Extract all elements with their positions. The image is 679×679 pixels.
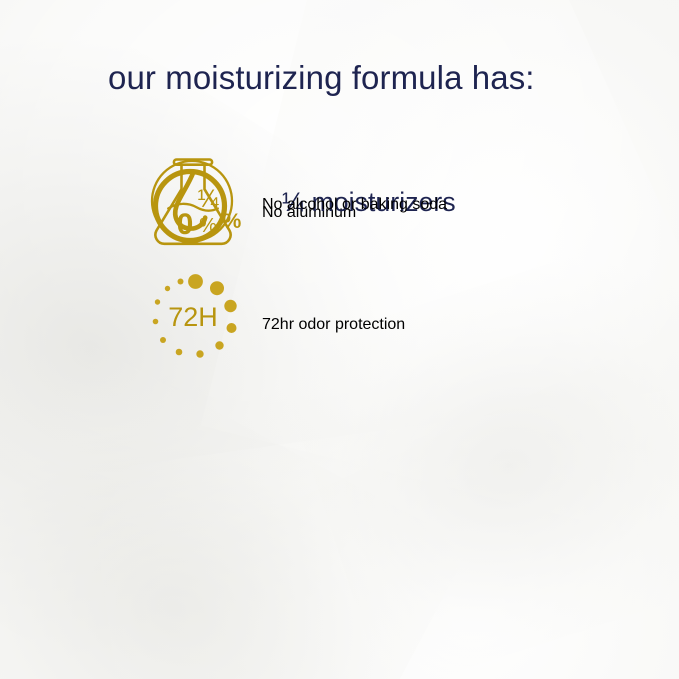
72h-dot-ring-icon: 72H (140, 270, 262, 379)
product-benefits-panel: our moisturizing formula has: % No alumi… (0, 0, 679, 679)
list-item-label: No alcohol or baking soda (262, 196, 447, 214)
icon-badge: % (199, 215, 217, 237)
list-item: 72H 72hr odor protection (140, 270, 405, 379)
page-title: our moisturizing formula has: (108, 59, 535, 97)
list-item: 0 % No alcohol or baking soda (140, 150, 447, 259)
icon-text: 0 (177, 208, 194, 241)
list-item-label: 72hr odor protection (262, 316, 405, 334)
flask-zero-percent-icon: 0 % (140, 150, 262, 259)
icon-text: 72H (168, 302, 218, 332)
